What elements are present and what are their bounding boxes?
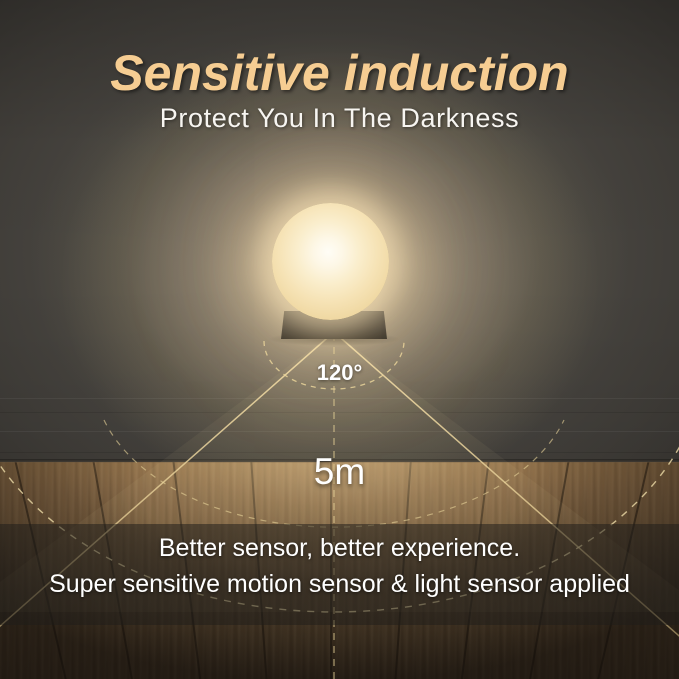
detection-angle-label: 120°: [0, 360, 679, 386]
lamp-globe: [272, 203, 389, 320]
caption-line-2: Super sensitive motion sensor & light se…: [0, 570, 679, 599]
caption-line-1: Better sensor, better experience.: [0, 534, 679, 563]
detection-distance-label: 5m: [0, 451, 679, 493]
product-marketing-image: Sensitive induction Protect You In The D…: [0, 0, 679, 679]
page-subtitle: Protect You In The Darkness: [0, 103, 679, 134]
page-title: Sensitive induction: [0, 44, 679, 102]
